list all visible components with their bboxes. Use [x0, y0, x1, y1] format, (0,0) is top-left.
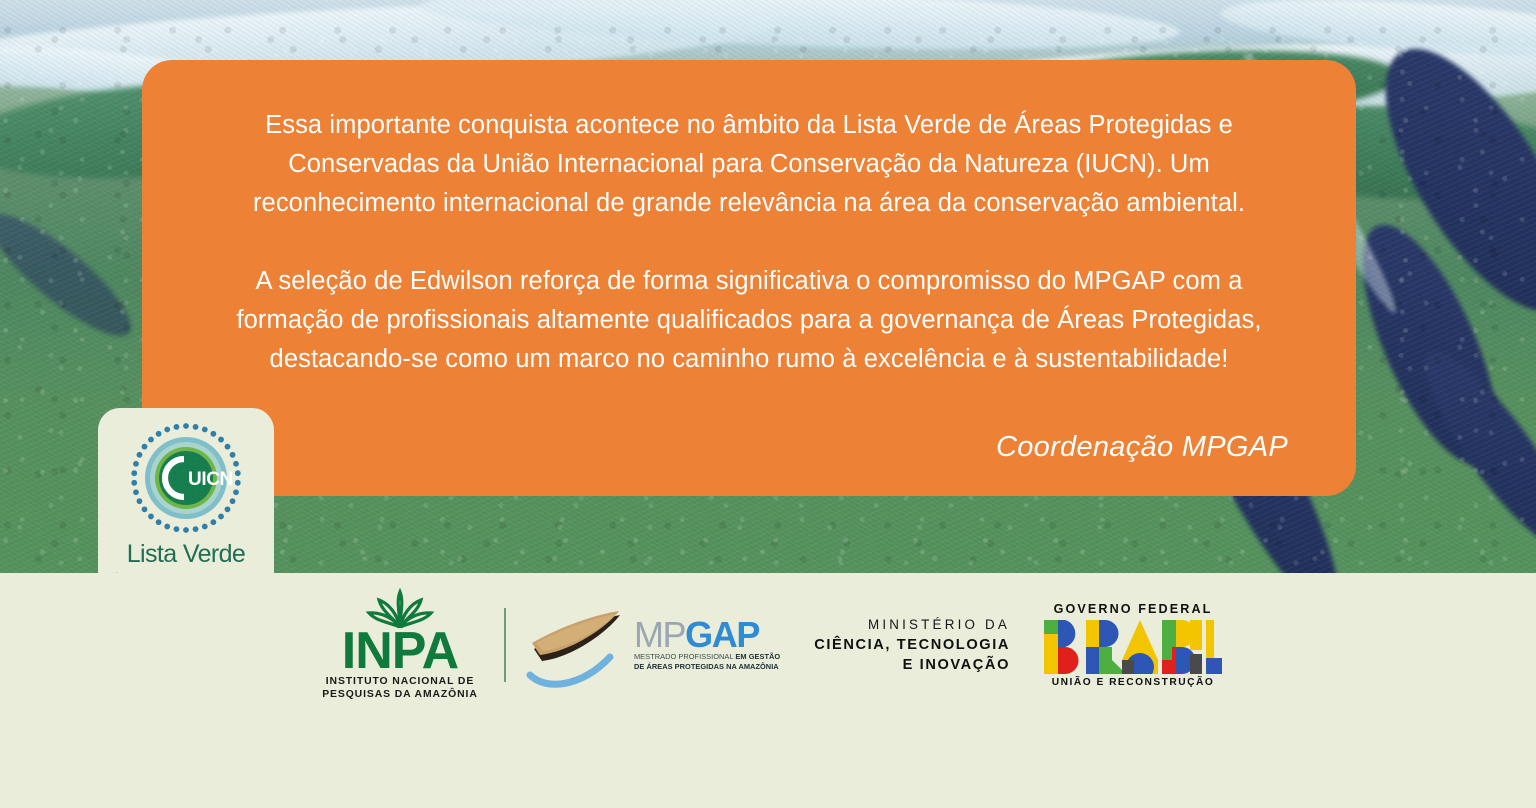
mpgap-wordmark-light: MP — [634, 614, 685, 655]
mpgap-tagline-line-1: MESTRADO PROFISSIONAL EM GESTÃO — [634, 652, 780, 662]
message-card: Essa importante conquista acontece no âm… — [142, 60, 1356, 496]
mpgap-wordmark-bold: GAP — [685, 614, 759, 655]
inpa-subtitle-line-2: PESQUISAS DA AMAZÔNIA — [322, 688, 478, 701]
ministry-line-1: MINISTÉRIO DA — [814, 615, 1010, 635]
ministry-line-3: E INOVAÇÃO — [814, 655, 1010, 675]
iucn-lista-verde-badge: UICN Lista Verde Áreas Protegidas | Cons… — [98, 408, 274, 600]
logo-divider — [504, 608, 506, 682]
partner-logos-row: INPA INSTITUTO NACIONAL DE PESQUISAS DA … — [0, 587, 1536, 702]
mpgap-logo: MPGAP MESTRADO PROFISSIONAL EM GESTÃO DE… — [524, 599, 780, 691]
iucn-badge-title: Lista Verde — [127, 540, 246, 569]
mpgap-tagline-bold: EM GESTÃO — [735, 652, 780, 661]
mpgap-canoe-icon — [524, 599, 630, 691]
mpgap-tagline-line-2: DE ÁREAS PROTEGIDAS NA AMAZÔNIA — [634, 662, 780, 672]
message-paragraph-1: Essa importante conquista acontece no âm… — [200, 106, 1298, 223]
mpgap-wordmark: MPGAP — [634, 618, 780, 652]
inpa-subtitle-line-1: INSTITUTO NACIONAL DE — [326, 675, 474, 688]
brasil-wordmark-icon — [1044, 620, 1222, 674]
message-signature: Coordenação MPGAP — [996, 431, 1288, 464]
footer-bar: INPA INSTITUTO NACIONAL DE PESQUISAS DA … — [0, 573, 1536, 808]
inpa-logo: INPA INSTITUTO NACIONAL DE PESQUISAS DA … — [314, 588, 486, 702]
government-bottom-label: UNIÃO E RECONSTRUÇÃO — [1052, 677, 1214, 688]
inpa-wordmark: INPA — [342, 628, 458, 676]
message-paragraph-2: A seleção de Edwilson reforça de forma s… — [200, 262, 1298, 379]
government-top-label: GOVERNO FEDERAL — [1054, 602, 1213, 616]
ministry-line-2: CIÊNCIA, TECNOLOGIA — [814, 635, 1010, 655]
mpgap-tagline-light: MESTRADO PROFISSIONAL — [634, 652, 735, 661]
iucn-seal-icon: UICN — [126, 418, 246, 538]
svg-text:UICN: UICN — [188, 469, 233, 490]
poster-canvas: Essa importante conquista acontece no âm… — [0, 0, 1536, 808]
ministry-logo: MINISTÉRIO DA CIÊNCIA, TECNOLOGIA E INOV… — [814, 615, 1010, 675]
government-logo: GOVERNO FEDERAL — [1044, 602, 1222, 688]
